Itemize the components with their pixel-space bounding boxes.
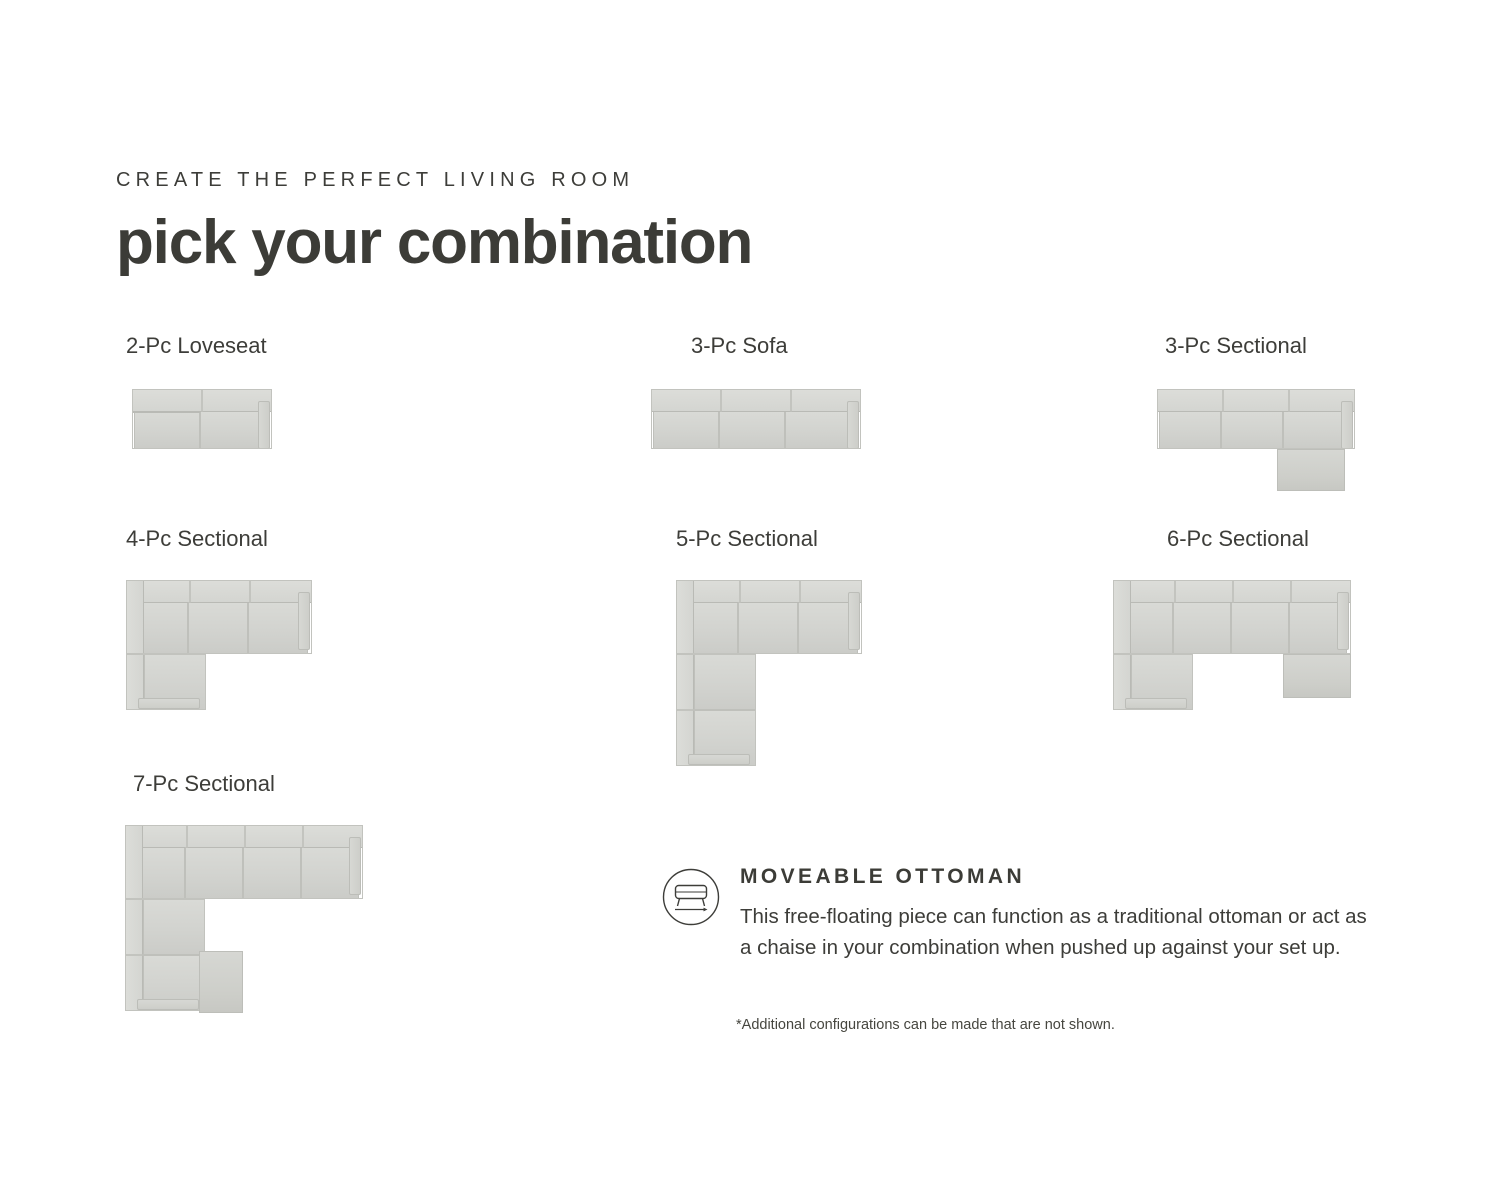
combo-card-2pc-loveseat[interactable]: 2-Pc Loveseat <box>126 335 326 472</box>
combo-label: 3-Pc Sectional <box>1165 335 1395 357</box>
combo-card-4pc-sectional[interactable]: 4-Pc Sectional <box>126 528 356 740</box>
chaise-outline <box>676 654 756 766</box>
chaise-outline <box>1113 654 1193 710</box>
combo-diagram-2pc-loveseat <box>126 377 326 472</box>
page-title: pick your combination <box>116 212 752 274</box>
combo-card-5pc-sectional[interactable]: 5-Pc Sectional <box>676 528 906 785</box>
combo-label: 6-Pc Sectional <box>1167 528 1457 550</box>
top-row-outline <box>1113 580 1351 654</box>
combo-diagram-3pc-sofa <box>691 377 921 472</box>
chaise-outline <box>125 899 205 1011</box>
sofa-outline <box>132 389 272 449</box>
top-row-outline <box>126 580 312 654</box>
page-root: CREATE THE PERFECT LIVING ROOM pick your… <box>0 0 1500 1200</box>
combo-label: 2-Pc Loveseat <box>126 335 326 357</box>
moveable-ottoman-callout: MOVEABLE OTTOMAN This free-floating piec… <box>662 866 1382 963</box>
page-header: CREATE THE PERFECT LIVING ROOM pick your… <box>116 170 752 274</box>
combo-label: 5-Pc Sectional <box>676 528 906 550</box>
callout-body: MOVEABLE OTTOMAN This free-floating piec… <box>740 866 1382 963</box>
top-row-outline <box>125 825 363 899</box>
combo-diagram-3pc-sectional <box>1165 377 1395 507</box>
sofa-outline <box>651 389 861 449</box>
chaise-outline <box>126 654 206 710</box>
combo-diagram-4pc-sectional <box>126 570 356 740</box>
combo-diagram-5pc-sectional <box>676 570 906 785</box>
combo-diagram-7pc-sectional <box>133 815 423 1030</box>
combo-card-6pc-sectional[interactable]: 6-Pc Sectional <box>1167 528 1457 755</box>
combo-label: 7-Pc Sectional <box>133 773 423 795</box>
moveable-ottoman <box>1283 654 1351 698</box>
sofa-outline <box>1157 389 1355 449</box>
callout-title: MOVEABLE OTTOMAN <box>740 866 1382 887</box>
moveable-ottoman-icon <box>662 868 720 926</box>
eyebrow-text: CREATE THE PERFECT LIVING ROOM <box>116 170 752 190</box>
moveable-ottoman <box>1277 449 1345 491</box>
combo-card-3pc-sectional[interactable]: 3-Pc Sectional <box>1165 335 1395 507</box>
combo-label: 4-Pc Sectional <box>126 528 356 550</box>
combo-card-7pc-sectional[interactable]: 7-Pc Sectional <box>133 773 423 1030</box>
callout-description: This free-floating piece can function as… <box>740 901 1382 963</box>
footnote: *Additional configurations can be made t… <box>736 1018 1115 1033</box>
moveable-ottoman <box>199 951 243 1013</box>
top-row-outline <box>676 580 862 654</box>
combo-label: 3-Pc Sofa <box>691 335 921 357</box>
combo-card-3pc-sofa[interactable]: 3-Pc Sofa <box>691 335 921 472</box>
combo-diagram-6pc-sectional <box>1167 570 1457 755</box>
